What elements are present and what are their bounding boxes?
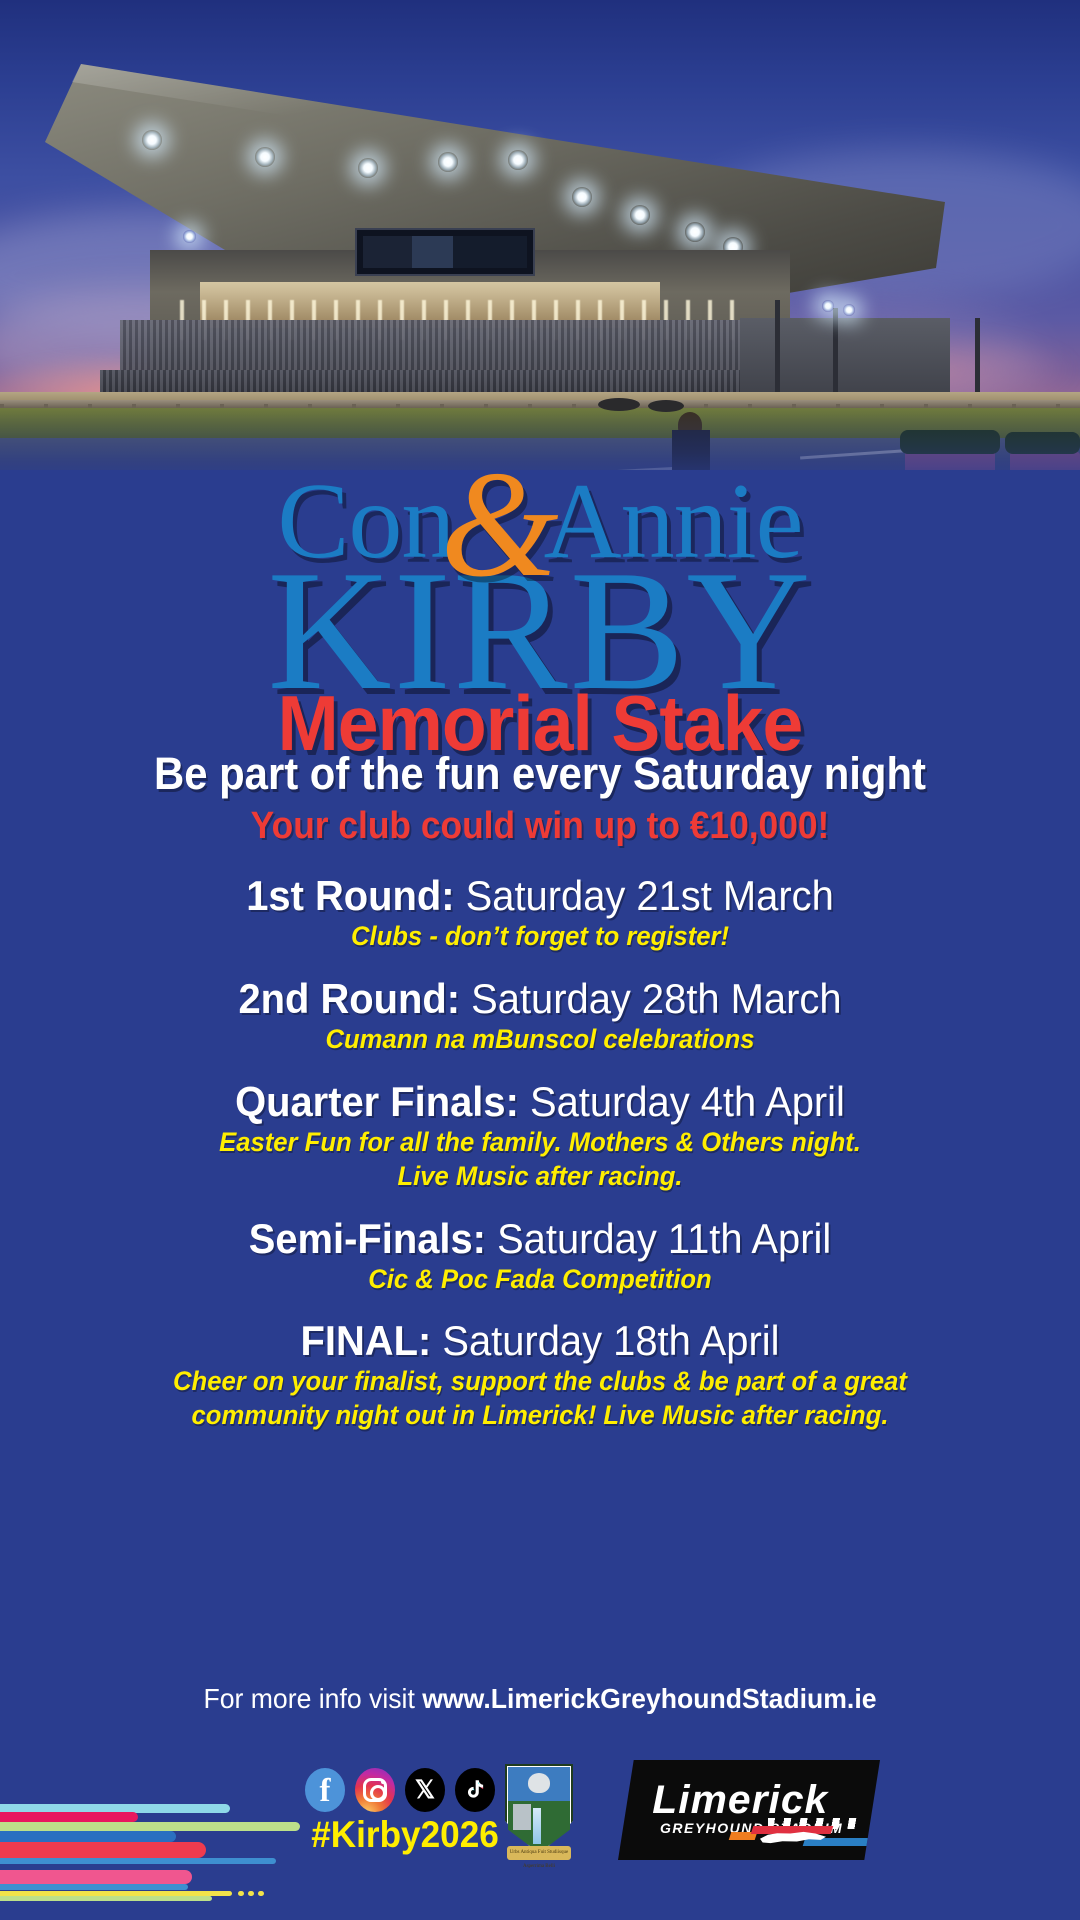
streak — [0, 1884, 188, 1890]
streak — [0, 1842, 206, 1858]
crest-castle — [513, 1804, 531, 1830]
floodlight — [183, 230, 196, 243]
instagram-icon[interactable] — [355, 1768, 395, 1812]
spacer — [0, 1299, 1080, 1317]
tiktok-icon[interactable] — [455, 1768, 495, 1812]
round-heading: Semi-Finals: Saturday 11th April — [27, 1215, 1053, 1262]
streak — [0, 1858, 276, 1864]
schedule-list: 1st Round: Saturday 21st March Clubs - d… — [0, 872, 1080, 1436]
facebook-icon[interactable]: f — [305, 1768, 345, 1812]
floodlight — [142, 130, 162, 150]
schedule-round: Quarter Finals: Saturday 4th April Easte… — [0, 1078, 1080, 1193]
round-heading: 1st Round: Saturday 21st March — [27, 872, 1053, 919]
logo-title: Limerick — [652, 1778, 828, 1823]
floodlight — [822, 300, 834, 312]
hashtag: #Kirby2026 — [296, 1814, 515, 1856]
title-con-annie: Con&Annie — [0, 455, 1080, 595]
x-twitter-icon[interactable]: 𝕏 — [405, 1768, 445, 1812]
round-note: Cic & Poc Fada Competition — [27, 1264, 1053, 1296]
round-date: Saturday 21st March — [455, 872, 834, 919]
tagline-prize: Your club could win up to €10,000! — [38, 805, 1042, 848]
more-info-prefix: For more info visit — [203, 1683, 422, 1714]
round-heading: FINAL: Saturday 18th April — [27, 1317, 1053, 1364]
floodlight — [438, 152, 458, 172]
streak — [0, 1831, 176, 1842]
round-date: Saturday 18th April — [431, 1317, 779, 1364]
round-heading: Quarter Finals: Saturday 4th April — [27, 1078, 1053, 1125]
logo-bar-red — [751, 1826, 834, 1834]
schedule-round: FINAL: Saturday 18th April Cheer on your… — [0, 1317, 1080, 1432]
title-annie: Annie — [544, 462, 803, 581]
round-note: Live Music after racing. — [27, 1161, 1053, 1193]
round-label: Quarter Finals: — [235, 1078, 519, 1125]
floodlight — [685, 222, 705, 242]
streak — [0, 1822, 300, 1831]
schedule-round: 2nd Round: Saturday 28th March Cumann na… — [0, 975, 1080, 1056]
crest-motto-ribbon: Urbs Antiqua Fuit Studiisque Asperrima B… — [507, 1846, 571, 1860]
floodlight — [843, 304, 855, 316]
limerick-coat-of-arms: Urbs Antiqua Fuit Studiisque Asperrima B… — [505, 1764, 573, 1856]
more-info-line: For more info visit www.LimerickGreyhoun… — [27, 1683, 1053, 1715]
round-date: Saturday 4th April — [519, 1078, 845, 1125]
streak-dot — [238, 1891, 244, 1896]
commentary-box — [355, 228, 535, 276]
floodlight — [358, 158, 378, 178]
speed-streak-graphic — [0, 1742, 340, 1920]
floodlight — [508, 150, 528, 170]
tiktok-note-glyph — [462, 1777, 488, 1803]
poster-root: Con&Annie KIRBY Memorial Stake Be part o… — [0, 0, 1080, 1920]
ampersand-glyph: & — [440, 440, 557, 608]
floodlight — [630, 205, 650, 225]
facebook-glyph: f — [320, 1775, 331, 1808]
schedule-round: Semi-Finals: Saturday 11th April Cic & P… — [0, 1215, 1080, 1296]
streak-dot — [248, 1891, 254, 1896]
round-date: Saturday 11th April — [486, 1215, 831, 1262]
round-note: Cheer on your finalist, support the club… — [27, 1366, 1053, 1398]
schedule-round: 1st Round: Saturday 21st March Clubs - d… — [0, 872, 1080, 953]
social-icons: f 𝕏 — [305, 1764, 495, 1816]
round-note: Cumann na mBunscol celebrations — [27, 1024, 1053, 1056]
streak — [0, 1870, 192, 1884]
crest-figure — [528, 1773, 550, 1793]
round-note: community night out in Limerick! Live Mu… — [27, 1400, 1053, 1432]
spacer — [0, 957, 1080, 975]
round-label: 2nd Round: — [238, 975, 460, 1022]
round-label: 1st Round: — [246, 872, 454, 919]
title-con: Con — [277, 462, 454, 581]
limerick-greyhound-stadium-logo: Limerick GREYHOUND STADIUM — [618, 1760, 880, 1860]
streak — [0, 1896, 212, 1901]
website-url[interactable]: www.LimerickGreyhoundStadium.ie — [422, 1683, 876, 1714]
crest-river — [533, 1808, 541, 1844]
floodlight — [572, 187, 592, 207]
round-note: Easter Fun for all the family. Mothers &… — [27, 1127, 1053, 1159]
spacer — [0, 1197, 1080, 1215]
round-label: FINAL: — [300, 1317, 431, 1364]
round-note: Clubs - don’t forget to register! — [27, 921, 1053, 953]
footer: f 𝕏 #Kirby2026 Urbs Antiqua Fuit Studiis… — [0, 1742, 1080, 1920]
streak-dot — [258, 1891, 264, 1896]
stadium-photo — [0, 0, 1080, 470]
title-memorial-stake: Memorial Stake — [32, 688, 1047, 758]
instagram-glyph — [363, 1778, 387, 1802]
round-heading: 2nd Round: Saturday 28th March — [27, 975, 1053, 1022]
round-date: Saturday 28th March — [460, 975, 841, 1022]
spacer — [0, 1060, 1080, 1078]
x-glyph: 𝕏 — [415, 1775, 435, 1805]
title-lockup: Con&Annie KIRBY Memorial Stake — [0, 455, 1080, 758]
round-label: Semi-Finals: — [249, 1215, 486, 1262]
streak — [0, 1812, 138, 1822]
floodlight — [255, 147, 275, 167]
